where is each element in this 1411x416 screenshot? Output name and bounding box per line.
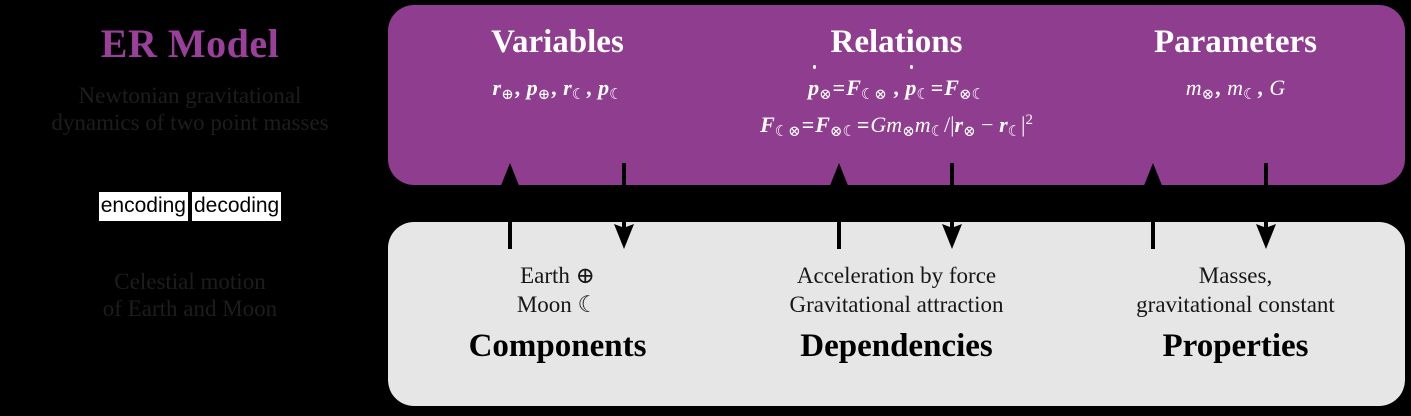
instance-description-line-2: of Earth and Moon xyxy=(0,295,380,322)
model-description: Newtonian gravitational dynamics of two … xyxy=(0,82,380,136)
instance-detail-components-line-2: Moon ☾ xyxy=(517,291,598,320)
codec-tag-row: encoding decoding xyxy=(0,192,380,221)
instance-detail-properties-line-1: Masses, xyxy=(1199,262,1272,291)
encoding-tag: encoding xyxy=(99,192,188,221)
model-formula-relations-line-1: p⊗=F☾⊗ , p☾=F⊗☾ xyxy=(808,72,985,107)
encoding-arrow-up-icon xyxy=(1140,163,1166,249)
model-heading-relations: Relations xyxy=(831,25,963,60)
model-formula-variables: r⊕, p⊕, r☾, p☾ xyxy=(493,72,623,107)
diagram-canvas: ER Model Newtonian gravitational dynamic… xyxy=(0,0,1411,416)
model-panel-columns: Variables r⊕, p⊕, r☾, p☾ Relations p⊗=F☾… xyxy=(388,5,1405,185)
left-legend-column: ER Model Newtonian gravitational dynamic… xyxy=(0,0,380,416)
instance-column-properties: Masses, gravitational constant Propertie… xyxy=(1066,222,1405,406)
decoding-tag: decoding xyxy=(192,192,281,221)
instance-detail-dependencies-line-1: Acceleration by force xyxy=(797,262,996,291)
model-column-variables: Variables r⊕, p⊕, r☾, p☾ xyxy=(388,5,727,185)
instance-heading-properties: Properties xyxy=(1162,329,1308,364)
instance-panel-columns: Earth ⊕ Moon ☾ Components Acceleration b… xyxy=(388,222,1405,406)
model-column-relations: Relations p⊗=F☾⊗ , p☾=F⊗☾ F☾⊗=F⊗☾=Gm⊗m☾/… xyxy=(727,5,1066,185)
instance-column-components: Earth ⊕ Moon ☾ Components xyxy=(388,222,727,406)
decoding-arrow-down-icon xyxy=(1253,163,1279,249)
decoding-arrow-down-icon xyxy=(939,163,965,249)
model-heading-parameters: Parameters xyxy=(1154,25,1317,60)
model-formula-relations-line-2: F☾⊗=F⊗☾=Gm⊗m☾/|r⊗ − r☾|2 xyxy=(760,109,1033,144)
model-panel: Variables r⊕, p⊕, r☾, p☾ Relations p⊗=F☾… xyxy=(388,5,1405,185)
instance-heading-components: Components xyxy=(469,329,647,364)
instance-heading-dependencies: Dependencies xyxy=(800,329,993,364)
instance-detail-properties-line-2: gravitational constant xyxy=(1136,291,1335,320)
page-title: ER Model xyxy=(0,24,380,64)
instance-detail-dependencies-line-2: Gravitational attraction xyxy=(790,291,1004,320)
encoding-arrow-up-icon xyxy=(497,163,523,249)
instance-panel: Earth ⊕ Moon ☾ Components Acceleration b… xyxy=(388,222,1405,406)
model-description-line-2: dynamics of two point masses xyxy=(0,109,380,136)
model-column-parameters: Parameters m⊗, m☾, G xyxy=(1066,5,1405,185)
model-formula-parameters: m⊗, m☾, G xyxy=(1186,72,1286,107)
model-heading-variables: Variables xyxy=(491,25,624,60)
instance-description: Celestial motion of Earth and Moon xyxy=(0,268,380,322)
encoding-arrow-up-icon xyxy=(826,163,852,249)
instance-detail-components-line-1: Earth ⊕ xyxy=(520,262,595,291)
decoding-arrow-down-icon xyxy=(611,163,637,249)
model-description-line-1: Newtonian gravitational xyxy=(0,82,380,109)
instance-column-dependencies: Acceleration by force Gravitational attr… xyxy=(727,222,1066,406)
instance-description-line-1: Celestial motion xyxy=(0,268,380,295)
